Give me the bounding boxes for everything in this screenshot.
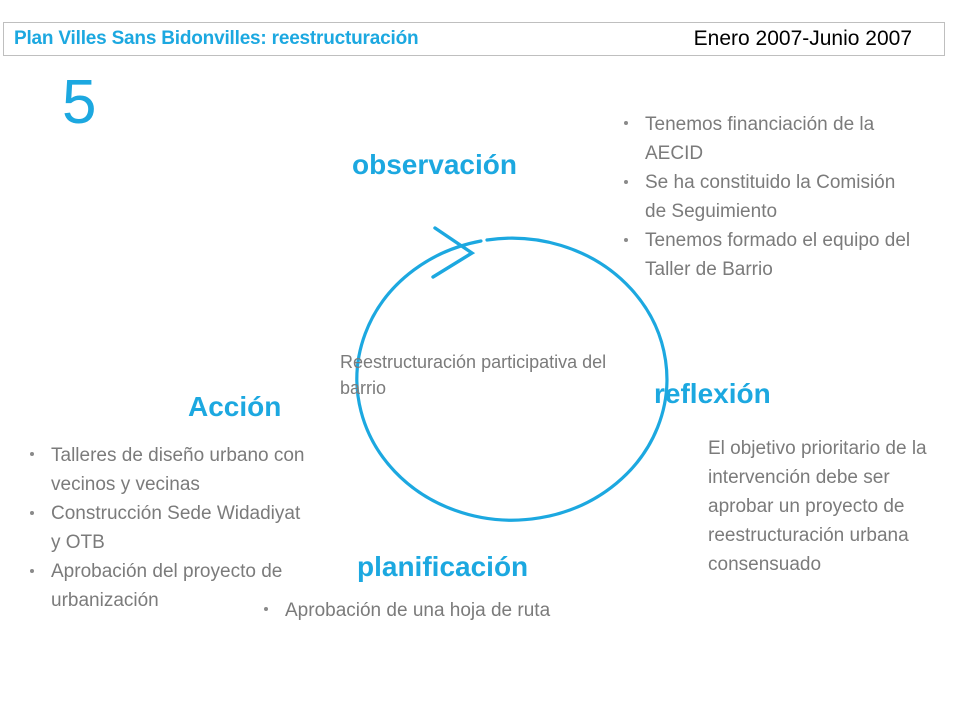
accion-bullet-list: Talleres de diseño urbano con vecinos y …	[24, 441, 314, 615]
reflexion-text-block: El objetivo prioritario de la intervenci…	[708, 434, 940, 579]
slide-date-range: Enero 2007-Junio 2007	[694, 27, 912, 51]
list-item: Se ha constituido la Comisión de Seguimi…	[618, 168, 918, 226]
list-item-text: Se ha constituido la Comisión de Seguimi…	[645, 172, 895, 222]
list-item: Construcción Sede Widadiyat y OTB	[24, 499, 314, 557]
observacion-text-block: Tenemos financiación de la AECID Se ha c…	[618, 110, 918, 284]
bullet-dot-icon	[30, 452, 34, 456]
accion-text-block: Talleres de diseño urbano con vecinos y …	[24, 441, 314, 615]
list-item: Talleres de diseño urbano con vecinos y …	[24, 441, 314, 499]
slide-title: Plan Villes Sans Bidonvilles: reestructu…	[14, 28, 418, 50]
bullet-dot-icon	[30, 569, 34, 573]
list-item: Tenemos formado el equipo del Taller de …	[618, 226, 918, 284]
list-item-text: Tenemos financiación de la AECID	[645, 114, 874, 164]
phase-heading-planificacion: planificación	[357, 551, 528, 583]
slide-number: 5	[62, 72, 96, 134]
list-item-text: Aprobación del proyecto de urbanización	[51, 561, 282, 611]
bullet-dot-icon	[624, 180, 628, 184]
list-item-text: Talleres de diseño urbano con vecinos y …	[51, 445, 305, 495]
list-item-text: Construcción Sede Widadiyat y OTB	[51, 503, 300, 553]
bullet-dot-icon	[624, 121, 628, 125]
cycle-arrowhead-icon	[433, 228, 472, 277]
planificacion-text-block: Aprobación de una hoja de ruta	[258, 596, 658, 625]
phase-heading-reflexion: reflexión	[654, 378, 771, 410]
bullet-dot-icon	[624, 238, 628, 242]
cycle-center-label: Reestructuración participativa del barri…	[340, 350, 610, 401]
bullet-dot-icon	[30, 511, 34, 515]
slide-header-bar: Plan Villes Sans Bidonvilles: reestructu…	[3, 22, 945, 56]
phase-heading-observacion: observación	[352, 149, 517, 181]
list-item: Tenemos financiación de la AECID	[618, 110, 918, 168]
bullet-dot-icon	[264, 607, 268, 611]
list-item: Aprobación de una hoja de ruta	[258, 596, 658, 625]
planificacion-bullet-list: Aprobación de una hoja de ruta	[258, 596, 658, 625]
list-item-text: Aprobación de una hoja de ruta	[285, 600, 550, 621]
observacion-bullet-list: Tenemos financiación de la AECID Se ha c…	[618, 110, 918, 284]
list-item-text: Tenemos formado el equipo del Taller de …	[645, 230, 910, 280]
phase-heading-accion: Acción	[188, 391, 281, 423]
